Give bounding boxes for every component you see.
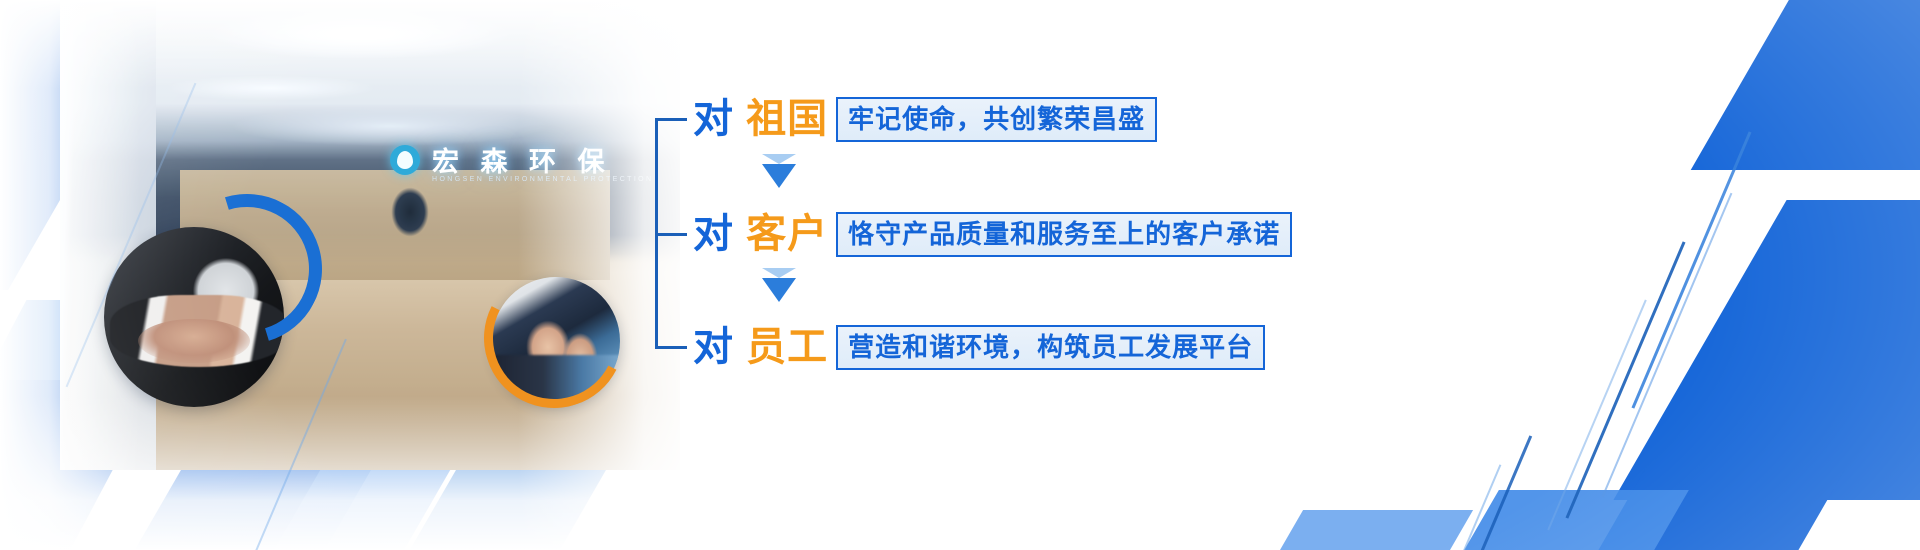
wall-sign-subtext: HONGSEN ENVIRONMENTAL PROTECTION [432, 176, 653, 183]
commitment-tag-customer: 恪守产品质量和服务至上的客户承诺 [836, 212, 1292, 257]
deco-shape-top-right-1 [1691, 0, 1920, 170]
commitment-label-employee: 对 员工 [693, 327, 828, 367]
commitment-label-customer: 对 客户 [693, 214, 828, 254]
corporate-values-banner: 宏 森 环 保 HONGSEN ENVIRONMENTAL PROTECTION… [0, 0, 1920, 550]
company-logo-icon [390, 145, 420, 175]
deco-shape-bottom-right-3 [1257, 510, 1473, 550]
wall-sign-text: 宏 森 环 保 [432, 140, 612, 179]
commitment-prefix: 对 [693, 212, 734, 256]
commitment-row-employee: 对 员工 营造和谐环境，构筑员工发展平台 [655, 319, 1265, 375]
chevron-bottom-part [762, 164, 796, 188]
commitment-tag-country: 牢记使命，共创繁荣昌盛 [836, 97, 1157, 142]
deco-shape-right-1 [1613, 200, 1920, 500]
bracket-tick-3 [655, 346, 687, 349]
chevron-top-part [762, 154, 796, 164]
deco-shape-bottom-right-2 [1441, 490, 1689, 550]
bracket-tick-1 [655, 118, 687, 121]
commitment-label-country: 对 祖国 [693, 99, 828, 139]
commitment-highlight: 员工 [746, 325, 828, 369]
commitment-row-country: 对 祖国 牢记使命，共创繁荣昌盛 [655, 91, 1157, 147]
photo-collage: 宏 森 环 保 HONGSEN ENVIRONMENTAL PROTECTION [0, 0, 700, 550]
commitments-group: 对 祖国 牢记使命，共创繁荣昌盛 对 客户 恪守产品质量和服务至上的客户承诺 对 [655, 86, 1355, 378]
commitment-highlight: 祖国 [746, 97, 828, 141]
wall-company-sign: 宏 森 环 保 HONGSEN ENVIRONMENTAL PROTECTION [390, 140, 612, 179]
commitment-highlight: 客户 [746, 212, 828, 256]
chevron-bottom-part [762, 278, 796, 302]
chevron-top-part [762, 268, 796, 278]
commitment-prefix: 对 [693, 325, 734, 369]
chevron-down-icon-2 [759, 268, 799, 302]
bracket-tick-2 [655, 233, 687, 236]
commitment-row-customer: 对 客户 恪守产品质量和服务至上的客户承诺 [655, 206, 1292, 262]
commitment-prefix: 对 [693, 97, 734, 141]
commitment-tag-employee: 营造和谐环境，构筑员工发展平台 [836, 325, 1265, 370]
chevron-down-icon-1 [759, 154, 799, 188]
